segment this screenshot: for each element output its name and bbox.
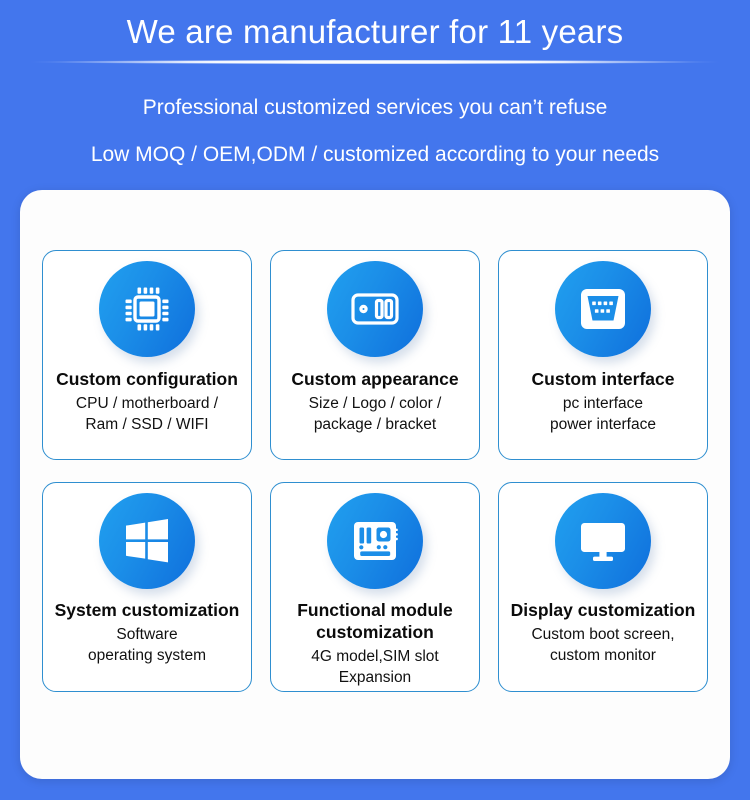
- feature-card-custom-configuration[interactable]: Custom configuration CPU / motherboard /…: [42, 250, 252, 460]
- motherboard-icon: [327, 493, 423, 589]
- header-subtitle-2: Low MOQ / OEM,ODM / customized according…: [0, 141, 750, 169]
- feature-card-description-line: pc interface: [496, 394, 711, 415]
- feature-card-title: Functional module customization: [260, 599, 490, 643]
- feature-card-title: Custom configuration: [56, 368, 238, 390]
- feature-card-title: Custom appearance: [291, 368, 458, 390]
- feature-card-title: System customization: [55, 599, 240, 621]
- feature-card-description: CPU / motherboard / Ram / SSD / WIFI: [40, 394, 255, 435]
- cpu-chip-icon: [99, 261, 195, 357]
- feature-card-description-line: Ram / SSD / WIFI: [40, 415, 255, 436]
- feature-card-description: Size / Logo / color / package / bracket: [268, 394, 483, 435]
- features-panel: Custom configuration CPU / motherboard /…: [20, 190, 730, 779]
- pc-case-icon: [327, 261, 423, 357]
- page-title: We are manufacturer for 11 years: [0, 10, 750, 54]
- feature-card-description-line: 4G model,SIM slot: [268, 647, 483, 668]
- feature-card-description: Software operating system: [40, 625, 255, 666]
- feature-card-description-line: power interface: [496, 415, 711, 436]
- header-subtitle-1: Professional customized services you can…: [0, 94, 750, 122]
- feature-card-description-line: operating system: [40, 646, 255, 667]
- promo-header: We are manufacturer for 11 years Profess…: [0, 0, 750, 169]
- feature-card-display-customization[interactable]: Display customization Custom boot screen…: [498, 482, 708, 692]
- serial-port-connector-icon: [555, 261, 651, 357]
- feature-card-title: Custom interface: [532, 368, 675, 390]
- feature-card-description-line: Expansion: [268, 668, 483, 689]
- feature-card-description-line: Size / Logo / color /: [268, 394, 483, 415]
- feature-card-description: 4G model,SIM slot Expansion: [268, 647, 483, 688]
- monitor-icon: [555, 493, 651, 589]
- feature-card-description-line: custom monitor: [496, 646, 711, 667]
- header-divider: [0, 56, 750, 68]
- feature-card-description-line: CPU / motherboard /: [40, 394, 255, 415]
- features-grid: Custom configuration CPU / motherboard /…: [42, 250, 708, 692]
- windows-logo-icon: [99, 493, 195, 589]
- feature-card-description-line: Custom boot screen,: [496, 625, 711, 646]
- feature-card-functional-module-customization[interactable]: Functional module customization 4G model…: [270, 482, 480, 692]
- feature-card-description: pc interface power interface: [496, 394, 711, 435]
- feature-card-custom-interface[interactable]: Custom interface pc interface power inte…: [498, 250, 708, 460]
- feature-card-title: Display customization: [511, 599, 696, 621]
- feature-card-description-line: Software: [40, 625, 255, 646]
- feature-card-system-customization[interactable]: System customization Software operating …: [42, 482, 252, 692]
- feature-card-description-line: package / bracket: [268, 415, 483, 436]
- divider-line: [28, 60, 722, 64]
- feature-card-custom-appearance[interactable]: Custom appearance Size / Logo / color / …: [270, 250, 480, 460]
- feature-card-description: Custom boot screen, custom monitor: [496, 625, 711, 666]
